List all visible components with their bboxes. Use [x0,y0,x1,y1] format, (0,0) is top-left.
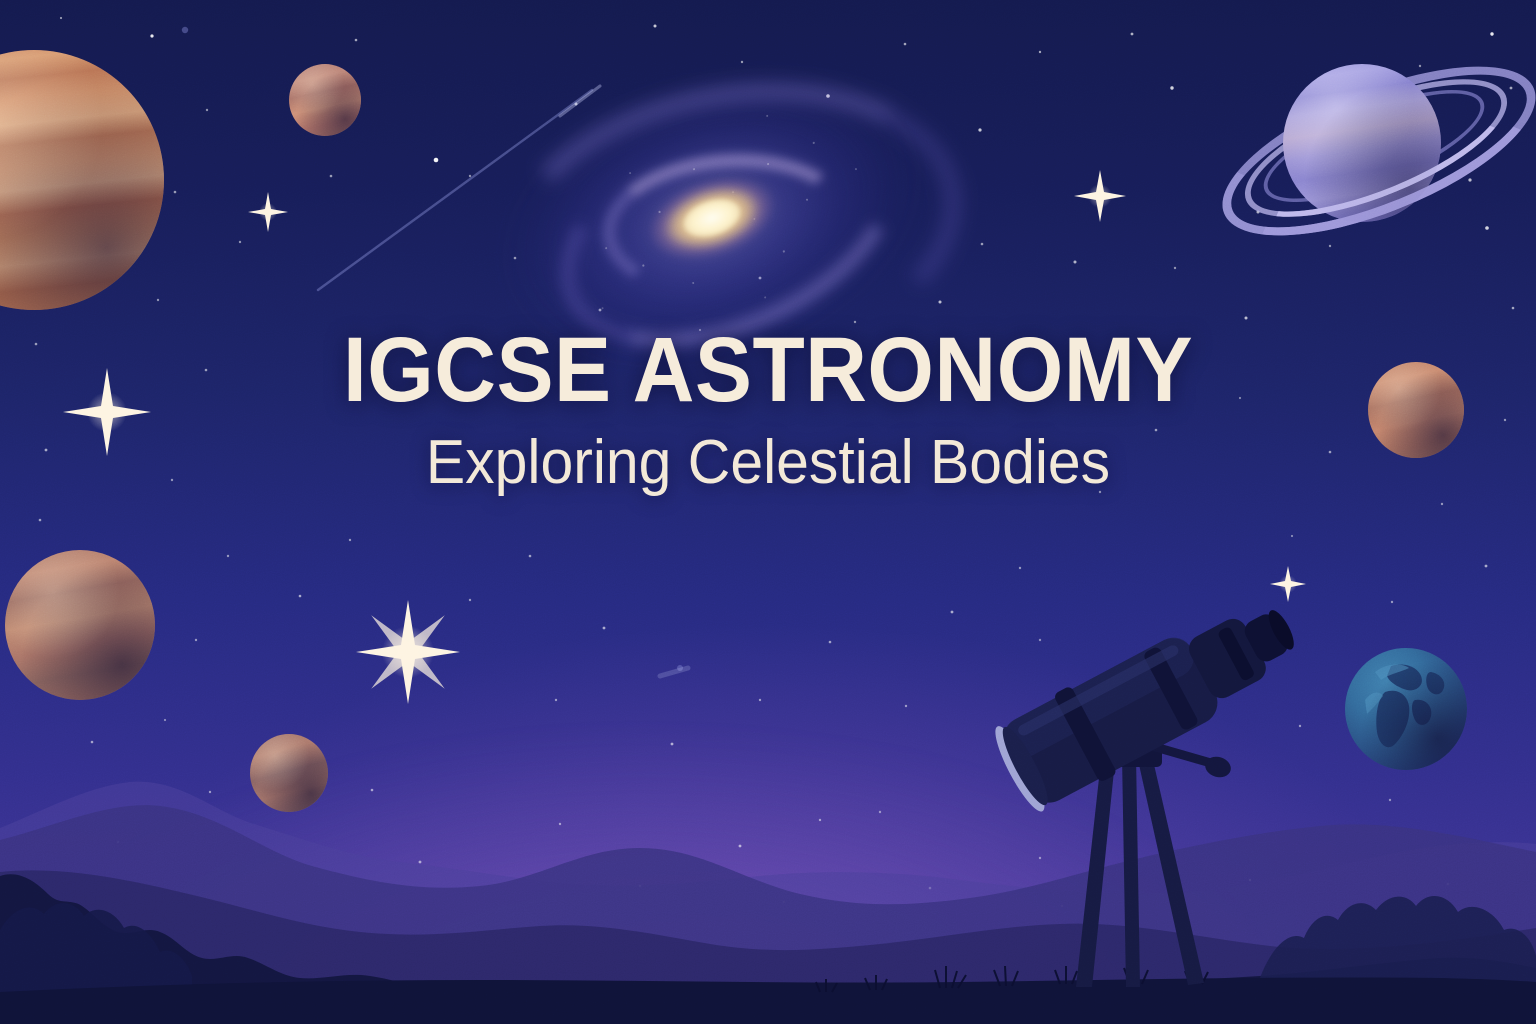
astronomy-title-card: IGCSE ASTRONOMY Exploring Celestial Bodi… [0,0,1536,1024]
page-title: IGCSE ASTRONOMY [54,324,1482,418]
title-block: IGCSE ASTRONOMY Exploring Celestial Bodi… [0,324,1536,495]
tripod-legs [1076,747,1204,987]
page-subtitle: Exploring Celestial Bodies [38,430,1497,495]
telescope-silhouette [960,555,1340,1015]
